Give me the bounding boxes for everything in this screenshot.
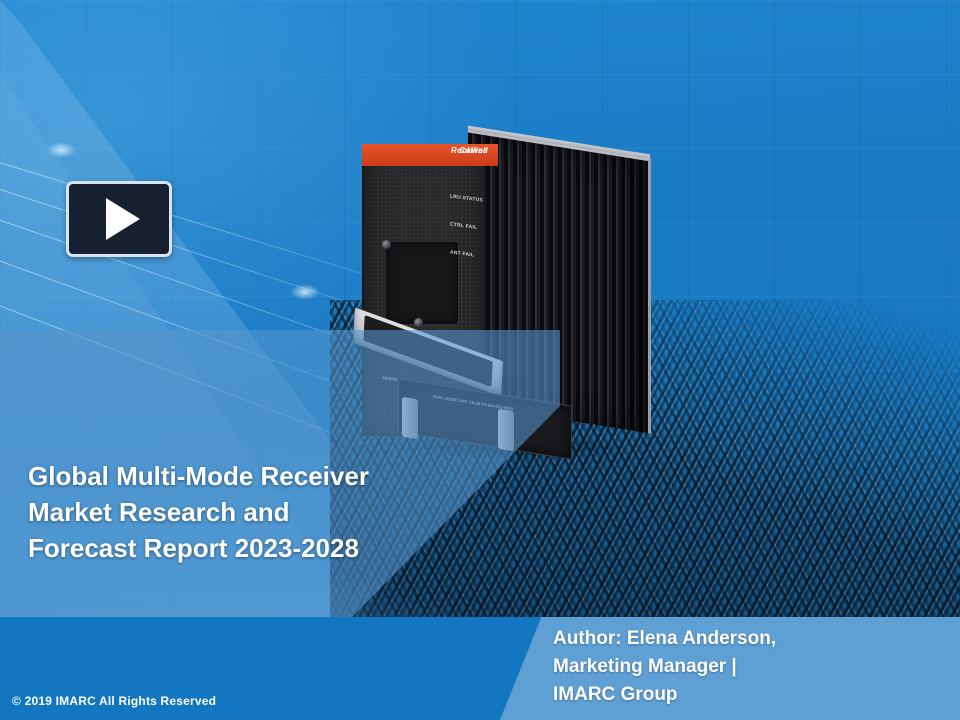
product-led-labels: LRU STATUS CTRL FAIL ANT FAIL <box>450 194 490 283</box>
slide-title-line-3: Forecast Report 2023-2028 <box>28 530 468 566</box>
product-screw <box>382 240 391 249</box>
author-line-2: Marketing Manager | <box>553 653 943 681</box>
copyright-notice: © 2019 IMARC All Rights Reserved <box>12 694 216 708</box>
slide-title-line-1: Global Multi-Mode Receiver <box>28 458 468 494</box>
product-led-label-ant-fail: ANT FAIL <box>450 250 490 261</box>
slide-title-line-2: Market Research and <box>28 494 468 530</box>
product-brand-line2: Collins <box>459 146 488 155</box>
author-line-1: Author: Elena Anderson, <box>553 625 943 653</box>
play-video-button[interactable] <box>66 181 172 257</box>
play-icon <box>106 198 140 240</box>
presentation-slide: TEST SER/PN Rockwell Collins LRU STATUS … <box>0 0 960 720</box>
product-access-hatch <box>386 242 458 324</box>
product-brand-label: Rockwell Collins <box>362 144 498 166</box>
product-screw <box>414 318 423 327</box>
product-led-label-ctrl-fail: CTRL FAIL <box>450 222 490 233</box>
author-block: Author: Elena Anderson, Marketing Manage… <box>553 625 943 709</box>
slide-title: Global Multi-Mode Receiver Market Resear… <box>28 458 468 566</box>
author-line-3: IMARC Group <box>553 681 943 709</box>
